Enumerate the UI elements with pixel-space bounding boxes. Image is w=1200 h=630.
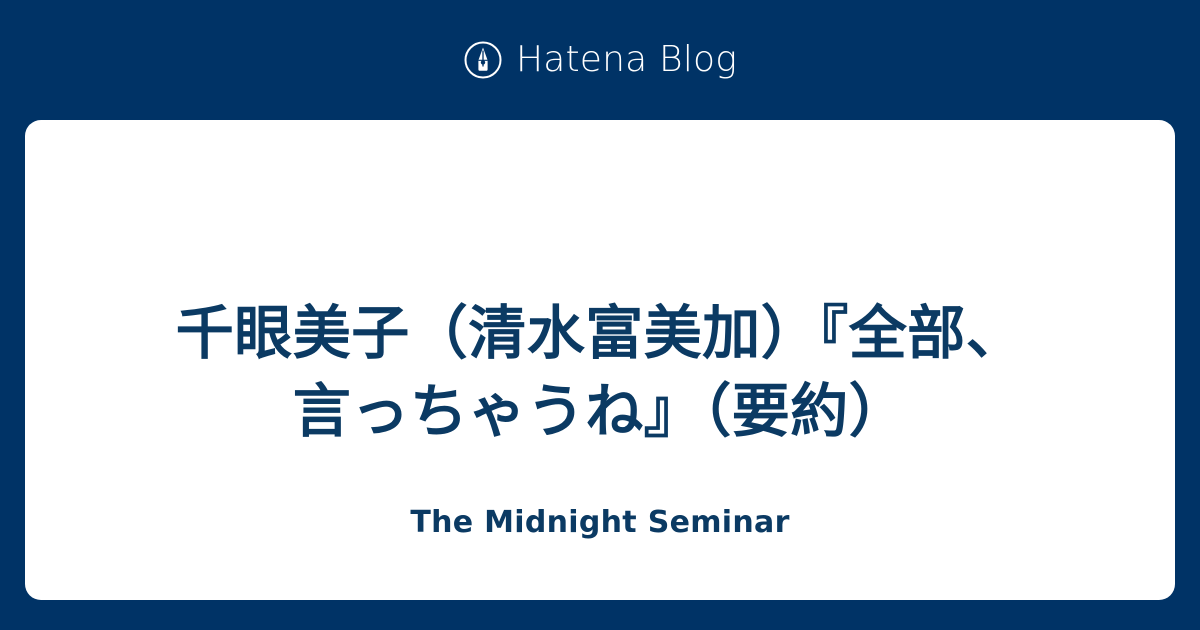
og-image-card: Hatena Blog 千眼美子（清水富美加）『全部、言っちゃうね』（要約） T…	[0, 0, 1200, 630]
entry-card-panel: 千眼美子（清水富美加）『全部、言っちゃうね』（要約） The Midnight …	[25, 120, 1175, 600]
entry-title: 千眼美子（清水富美加）『全部、言っちゃうね』（要約）	[170, 294, 1030, 451]
pen-nib-circle-icon	[463, 40, 503, 80]
brand-name-label: Hatena Blog	[516, 42, 737, 78]
blog-name-label: The Midnight Seminar	[25, 508, 1175, 538]
hatena-blog-brand: Hatena Blog	[463, 0, 737, 120]
